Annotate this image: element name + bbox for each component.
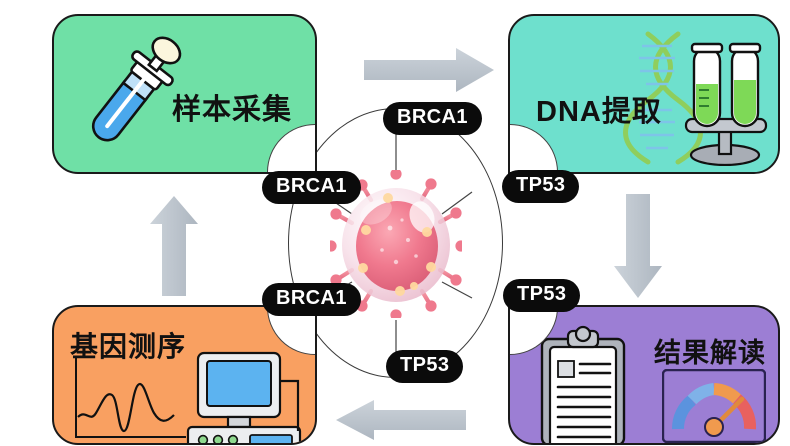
hub-badge-brca1-upper-left[interactable]: BRCA1 <box>262 171 361 204</box>
card-gene-sequencing[interactable]: 基因测序 <box>52 305 317 445</box>
card-sample-collection[interactable]: 样本采集 <box>52 14 317 174</box>
hub-badge-label: BRCA1 <box>276 176 347 197</box>
card-corner-notch <box>267 124 317 174</box>
waveform-computer-icon <box>68 351 313 445</box>
hub-badge-tp53-bottom[interactable]: TP53 <box>386 350 463 383</box>
arrow-left-up <box>146 194 202 300</box>
card-corner-notch <box>508 124 558 174</box>
hub-badge-label: TP53 <box>517 284 566 305</box>
arrow-top-right <box>360 46 500 98</box>
hub-badge-brca1-lower-left[interactable]: BRCA1 <box>262 283 361 316</box>
card-title-sample-collection: 样本采集 <box>172 86 292 128</box>
arrow-right-down <box>610 192 666 302</box>
hub-badge-label: TP53 <box>516 175 565 196</box>
hub-badge-label: BRCA1 <box>397 107 468 128</box>
arrow-bottom-left <box>330 398 470 444</box>
hub-badge-tp53-lower-right[interactable]: TP53 <box>503 279 580 312</box>
card-title-dna-extraction: DNA提取 <box>536 88 662 130</box>
hub-badge-label: TP53 <box>400 355 449 376</box>
hub-badge-tp53-upper-right[interactable]: TP53 <box>502 170 579 203</box>
card-dna-extraction[interactable]: DNA提取 <box>508 14 780 174</box>
clipboard-gauge-icon <box>528 325 638 445</box>
gauge-meter-icon <box>662 369 766 443</box>
hub-badge-brca1-top[interactable]: BRCA1 <box>383 102 482 135</box>
card-result-interpretation[interactable]: 结果解读 <box>508 305 780 445</box>
card-title-result-interpretation: 结果解读 <box>654 331 766 370</box>
hub-badge-label: BRCA1 <box>276 288 347 309</box>
diagram-canvas: 样本采集 <box>0 0 790 446</box>
